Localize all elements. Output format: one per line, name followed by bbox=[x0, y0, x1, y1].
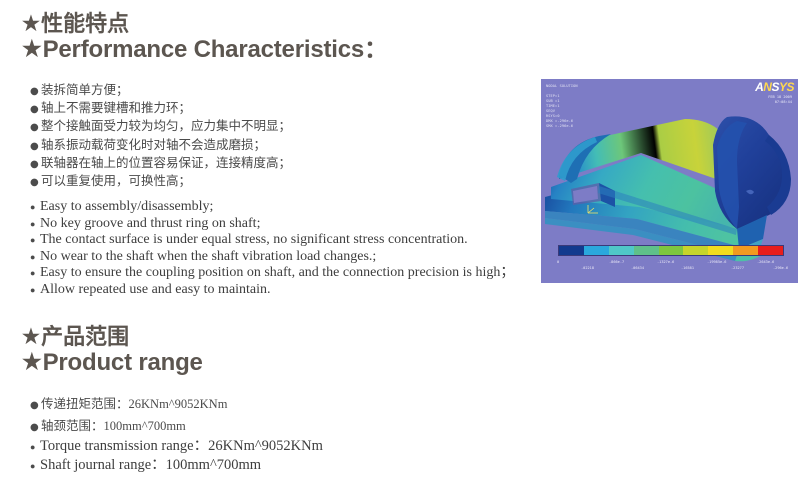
list-item-label: 联轴器在轴上的位置容易保证，连接精度高； bbox=[41, 154, 291, 172]
list-item: ●轴颈范围：100mm^700mm bbox=[30, 415, 227, 437]
star-icon: ★ bbox=[22, 326, 40, 349]
list-item-label: The contact surface is under equal stres… bbox=[40, 232, 468, 249]
star-icon: ★ bbox=[22, 350, 42, 375]
coordinate-triad-icon bbox=[586, 203, 600, 217]
list-item: ●Allow repeated use and easy to maintain… bbox=[30, 282, 514, 299]
bullet-dot-icon: ● bbox=[30, 236, 40, 245]
list-item-label: Torque transmission range： bbox=[40, 437, 208, 456]
list-item-label: 传递扭矩范围： bbox=[41, 393, 129, 415]
ansys-logo: ANSYS bbox=[755, 81, 794, 93]
bullet-dot-icon: ● bbox=[30, 443, 40, 452]
bullet-dot-icon: ● bbox=[30, 423, 41, 433]
list-item: ●Torque transmission range：26KNm^9052KNm bbox=[30, 437, 323, 456]
list-item-label: Allow repeated use and easy to maintain. bbox=[40, 282, 271, 299]
product-feature-page: ★性能特点 ★Performance Characteristics： ●装拆简… bbox=[0, 0, 811, 477]
legend-label: .23277 bbox=[731, 266, 744, 270]
performance-heading-cn: ★性能特点 bbox=[22, 12, 388, 37]
product-range-heading-en-text: Product range bbox=[43, 349, 203, 376]
list-item: ●整个接触面受力较为均匀，应力集中不明显； bbox=[30, 117, 291, 135]
triad-axes bbox=[586, 203, 600, 215]
product-range-heading-cn-text: 产品范围 bbox=[41, 324, 129, 349]
performance-heading-en: ★Performance Characteristics： bbox=[22, 37, 388, 64]
bullet-dot-icon: ● bbox=[30, 105, 41, 115]
star-icon: ★ bbox=[22, 37, 42, 62]
list-item-label: No wear to the shaft when the shaft vibr… bbox=[40, 249, 376, 266]
legend-band bbox=[584, 246, 609, 255]
legend-label: .16581 bbox=[681, 266, 694, 270]
ansys-logo-s2: S bbox=[786, 80, 794, 94]
list-item-label: 可以重复使用，可换性高； bbox=[41, 172, 191, 190]
list-item: ●Shaft journal range：100mm^700mm bbox=[30, 456, 323, 475]
list-item-label: 整个接触面受力较为均匀，应力集中不明显； bbox=[41, 117, 291, 135]
list-item: ●Easy to ensure the coupling position on… bbox=[30, 265, 514, 282]
list-item: ●传递扭矩范围：26KNm^9052KNm bbox=[30, 393, 227, 415]
legend-label: .19985e-6 bbox=[707, 260, 726, 264]
list-item: ●轴上不需要键槽和推力环； bbox=[30, 99, 291, 117]
list-item: ●轴系振动载荷变化时对轴不会造成磨损； bbox=[30, 136, 291, 154]
list-item-label: 轴系振动载荷变化时对轴不会造成磨损； bbox=[41, 136, 266, 154]
legend-band bbox=[708, 246, 733, 255]
bullet-dot-icon: ● bbox=[30, 253, 40, 262]
product-range-bullets-cn: ●传递扭矩范围：26KNm^9052KNm ●轴颈范围：100mm^700mm bbox=[30, 393, 227, 437]
solution-info-text: NODAL SOLUTION STEP=1 SUB =1 TIME=1 SEQV… bbox=[546, 84, 578, 129]
star-icon: ★ bbox=[22, 13, 40, 36]
legend-band bbox=[634, 246, 659, 255]
list-item-label: No key groove and thrust ring on shaft; bbox=[40, 216, 260, 233]
performance-bullets-cn: ●装拆简单方便； ●轴上不需要键槽和推力环； ●整个接触面受力较为均匀，应力集中… bbox=[30, 81, 291, 190]
bullet-dot-icon: ● bbox=[30, 269, 40, 278]
legend-label: .02218 bbox=[581, 266, 594, 270]
list-item: ●装拆简单方便； bbox=[30, 81, 291, 99]
list-item: ●No wear to the shaft when the shaft vib… bbox=[30, 249, 514, 266]
product-range-heading: ★产品范围 ★Product range bbox=[22, 325, 203, 377]
bullet-dot-icon: ● bbox=[30, 142, 41, 152]
bullet-dot-icon: ● bbox=[30, 462, 40, 471]
bullet-dot-icon: ● bbox=[30, 286, 40, 295]
list-item-label: Shaft journal range： bbox=[40, 456, 166, 475]
legend-band bbox=[609, 246, 634, 255]
performance-heading-en-text: Performance Characteristics： bbox=[43, 36, 388, 63]
list-item: ●No key groove and thrust ring on shaft; bbox=[30, 216, 514, 233]
list-item: ●Easy to assembly/disassembly; bbox=[30, 199, 514, 216]
product-range-heading-cn: ★产品范围 bbox=[22, 325, 203, 350]
legend-label: .06434 bbox=[631, 266, 644, 270]
legend-label: .1327e-6 bbox=[657, 260, 674, 264]
list-item-label: 轴颈范围： bbox=[41, 415, 104, 437]
legend-label: 0 bbox=[557, 260, 559, 264]
legend-label: .866e-7 bbox=[609, 260, 624, 264]
legend-band bbox=[733, 246, 758, 255]
performance-heading: ★性能特点 ★Performance Characteristics： bbox=[22, 12, 388, 64]
product-range-heading-en: ★Product range bbox=[22, 350, 203, 377]
list-item: ●可以重复使用，可换性高； bbox=[30, 172, 291, 190]
list-item-label: 装拆简单方便； bbox=[41, 81, 129, 99]
list-item-value: 26KNm^9052KNm bbox=[208, 437, 323, 456]
legend-band bbox=[758, 246, 783, 255]
legend-label: .2643e-6 bbox=[757, 260, 774, 264]
bullet-dot-icon: ● bbox=[30, 123, 41, 133]
legend-band bbox=[683, 246, 708, 255]
legend-label: .296e-6 bbox=[773, 266, 788, 270]
list-item-label: Easy to assembly/disassembly; bbox=[40, 199, 213, 216]
bullet-dot-icon: ● bbox=[30, 160, 41, 170]
bullet-dot-icon: ● bbox=[30, 401, 41, 411]
bullet-dot-icon: ● bbox=[30, 220, 40, 229]
bullet-dot-icon: ● bbox=[30, 203, 40, 212]
performance-bullets-en: ●Easy to assembly/disassembly; ●No key g… bbox=[30, 199, 514, 299]
bullet-dot-icon: ● bbox=[30, 178, 41, 188]
list-item-label: 轴上不需要键槽和推力环； bbox=[41, 99, 191, 117]
list-item: ●The contact surface is under equal stre… bbox=[30, 232, 514, 249]
list-item-label: Easy to ensure the coupling position on … bbox=[40, 265, 514, 282]
stress-color-legend bbox=[558, 245, 784, 256]
list-item-value: 26KNm^9052KNm bbox=[129, 393, 228, 415]
list-item: ●联轴器在轴上的位置容易保证，连接精度高； bbox=[30, 154, 291, 172]
bullet-dot-icon: ● bbox=[30, 87, 41, 97]
legend-band bbox=[659, 246, 684, 255]
ansys-fea-figure: NODAL SOLUTION STEP=1 SUB =1 TIME=1 SEQV… bbox=[541, 79, 798, 283]
performance-heading-cn-text: 性能特点 bbox=[41, 11, 129, 36]
ansys-logo-s: S bbox=[771, 80, 779, 94]
product-range-bullets-en: ●Torque transmission range：26KNm^9052KNm… bbox=[30, 437, 323, 475]
list-item-value: 100mm^700mm bbox=[166, 456, 261, 475]
legend-band bbox=[559, 246, 584, 255]
figure-date-stamp: FEB 18 2009 07:08:44 bbox=[768, 95, 792, 105]
legend-tick-labels: 0 .866e-7 .1327e-6 .19985e-6 .2643e-6 .0… bbox=[555, 257, 789, 265]
list-item-value: 100mm^700mm bbox=[104, 415, 186, 437]
